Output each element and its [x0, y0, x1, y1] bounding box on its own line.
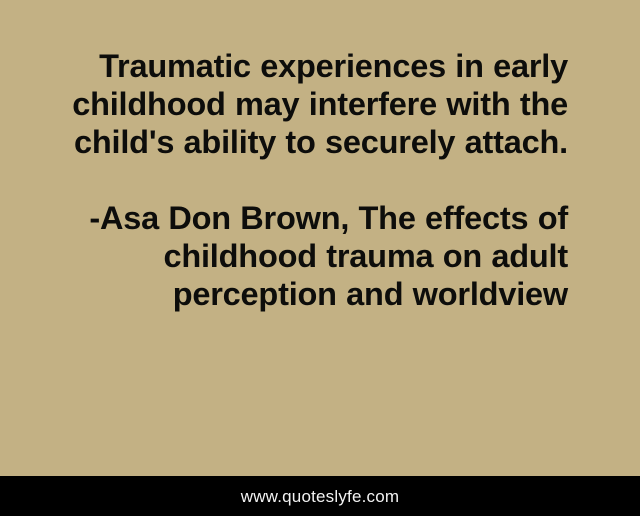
quote-attribution-spacer — [72, 161, 568, 199]
quote-content-area: Traumatic experiences in early childhood… — [0, 0, 640, 476]
quote-card: Traumatic experiences in early childhood… — [0, 0, 640, 516]
site-footer: www.quoteslyfe.com — [0, 476, 640, 516]
quote-text: Traumatic experiences in early childhood… — [72, 47, 568, 161]
site-url-label: www.quoteslyfe.com — [241, 488, 400, 505]
quote-attribution: -Asa Don Brown, The effects of childhood… — [72, 199, 568, 313]
